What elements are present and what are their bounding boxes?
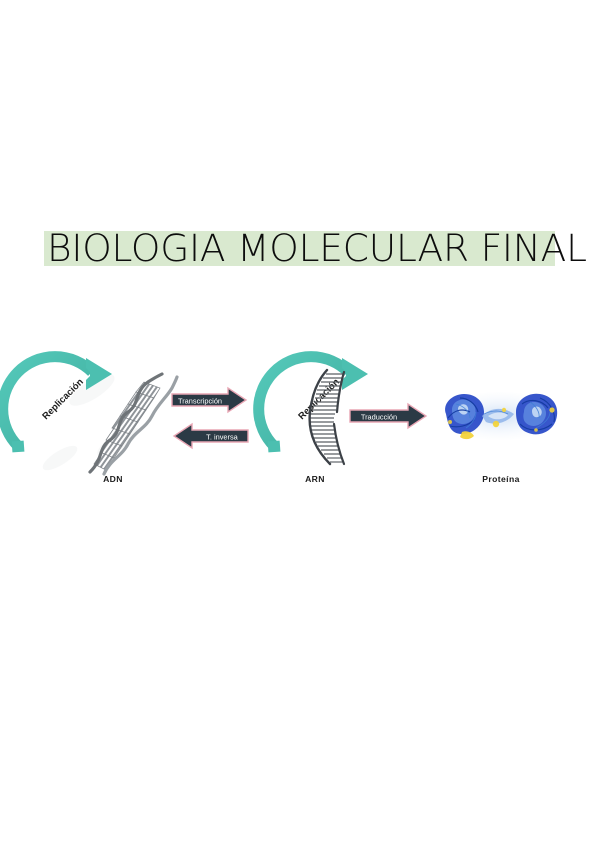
page-title: BIOLOGIA MOLECULAR FINAL — [44, 226, 555, 270]
process-arrow-transcripcion-label: Transcripción — [178, 396, 222, 405]
process-arrow-transcripcion-inversa: T. inversa — [174, 424, 248, 448]
central-dogma-diagram: Replicación — [0, 346, 600, 506]
process-arrow-transcripcion-inversa-label: T. inversa — [206, 432, 239, 441]
title-block: BIOLOGIA MOLECULAR FINAL — [44, 226, 556, 270]
molecule-label-arn: ARN — [280, 474, 350, 484]
document-page: BIOLOGIA MOLECULAR FINAL — [0, 0, 600, 848]
process-arrow-traduccion: Traducción — [350, 404, 426, 428]
molecule-label-adn: ADN — [78, 474, 148, 484]
process-arrow-transcripcion: Transcripción — [172, 388, 246, 412]
process-arrow-traduccion-label: Traducción — [361, 412, 397, 421]
molecule-label-proteina: Proteína — [462, 474, 540, 484]
protein-ribbon-icon — [442, 392, 558, 440]
